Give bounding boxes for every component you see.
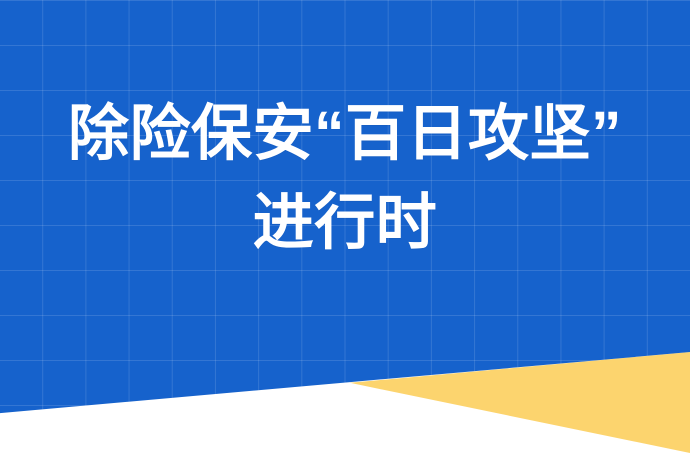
headline-line-1: 除险保安“百日攻坚” xyxy=(0,103,690,164)
headline-line-2: 进行时 xyxy=(0,192,690,253)
poster-banner: 除险保安“百日攻坚” 进行时 xyxy=(0,0,690,459)
headline-block: 除险保安“百日攻坚” 进行时 xyxy=(0,103,690,253)
